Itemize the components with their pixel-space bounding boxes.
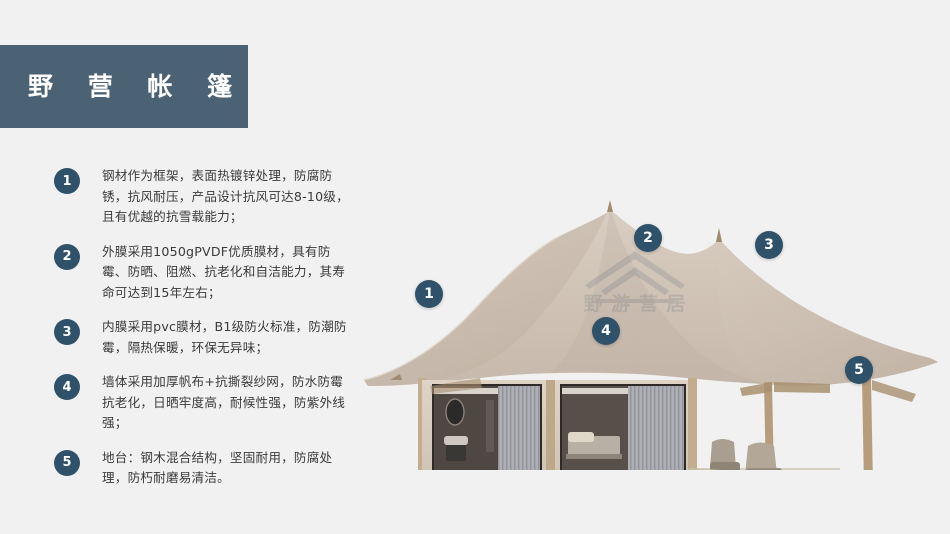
feature-badge-4: 4	[54, 374, 80, 400]
feature-badge-1: 1	[54, 168, 80, 194]
feature-text-2: 外膜采用1050gPVDF优质膜材，具有防霉、防晒、阻燃、抗老化和自洁能力，其寿…	[102, 242, 354, 304]
feature-item-4: 4 墙体采用加厚帆布+抗撕裂纱网，防水防霉抗老化，日晒牢度高，耐候性强，防紫外线…	[54, 372, 354, 434]
feature-badge-3: 3	[54, 319, 80, 345]
image-marker-1[interactable]: 1	[415, 280, 443, 308]
slide-canvas: 野 营 帐 篷 1 钢材作为框架，表面热镀锌处理，防腐防锈，抗风耐压，产品设计抗…	[0, 0, 950, 534]
feature-item-3: 3 内膜采用pvc膜材，B1级防火标准，防潮防霉，隔热保暖，环保无异味；	[54, 317, 354, 358]
image-marker-4[interactable]: 4	[592, 317, 620, 345]
image-marker-2[interactable]: 2	[634, 224, 662, 252]
feature-text-4: 墙体采用加厚帆布+抗撕裂纱网，防水防霉抗老化，日晒牢度高，耐候性强，防紫外线强；	[102, 372, 354, 434]
feature-item-1: 1 钢材作为框架，表面热镀锌处理，防腐防锈，抗风耐压，产品设计抗风可达8-10级…	[54, 166, 354, 228]
feature-item-2: 2 外膜采用1050gPVDF优质膜材，具有防霉、防晒、阻燃、抗老化和自洁能力，…	[54, 242, 354, 304]
tent-photo	[360, 150, 950, 470]
title-banner: 野 营 帐 篷	[0, 45, 248, 128]
image-marker-5[interactable]: 5	[845, 356, 873, 384]
feature-list: 1 钢材作为框架，表面热镀锌处理，防腐防锈，抗风耐压，产品设计抗风可达8-10级…	[54, 166, 354, 489]
feature-badge-2: 2	[54, 244, 80, 270]
feature-text-1: 钢材作为框架，表面热镀锌处理，防腐防锈，抗风耐压，产品设计抗风可达8-10级，且…	[102, 166, 354, 228]
feature-item-5: 5 地台：钢木混合结构，坚固耐用，防腐处理，防朽耐磨易清洁。	[54, 448, 354, 489]
page-title: 野 营 帐 篷	[0, 74, 245, 99]
feature-badge-5: 5	[54, 450, 80, 476]
feature-text-3: 内膜采用pvc膜材，B1级防火标准，防潮防霉，隔热保暖，环保无异味；	[102, 317, 354, 358]
feature-text-5: 地台：钢木混合结构，坚固耐用，防腐处理，防朽耐磨易清洁。	[102, 448, 354, 489]
image-marker-3[interactable]: 3	[755, 231, 783, 259]
